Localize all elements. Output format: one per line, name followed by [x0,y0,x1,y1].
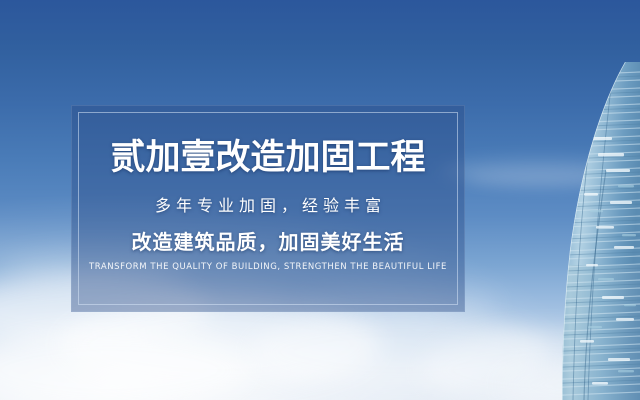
page-title: 贰加壹改造加固工程 [110,141,425,176]
hero-text-panel: 贰加壹改造加固工程 多年专业加固，经验丰富 改造建筑品质，加固美好生活 TRAN… [71,105,465,312]
hero-banner: 贰加壹改造加固工程 多年专业加固，经验丰富 改造建筑品质，加固美好生活 TRAN… [0,0,640,400]
hero-slogan: 改造建筑品质，加固美好生活 [132,232,405,252]
hero-subline: 多年专业加固，经验丰富 [150,198,386,214]
hero-slogan-english: TRANSFORM THE QUALITY OF BUILDING, STREN… [89,263,447,272]
skyscraper-image [540,50,640,400]
panel-content: 贰加壹改造加固工程 多年专业加固，经验丰富 改造建筑品质，加固美好生活 TRAN… [71,105,465,312]
